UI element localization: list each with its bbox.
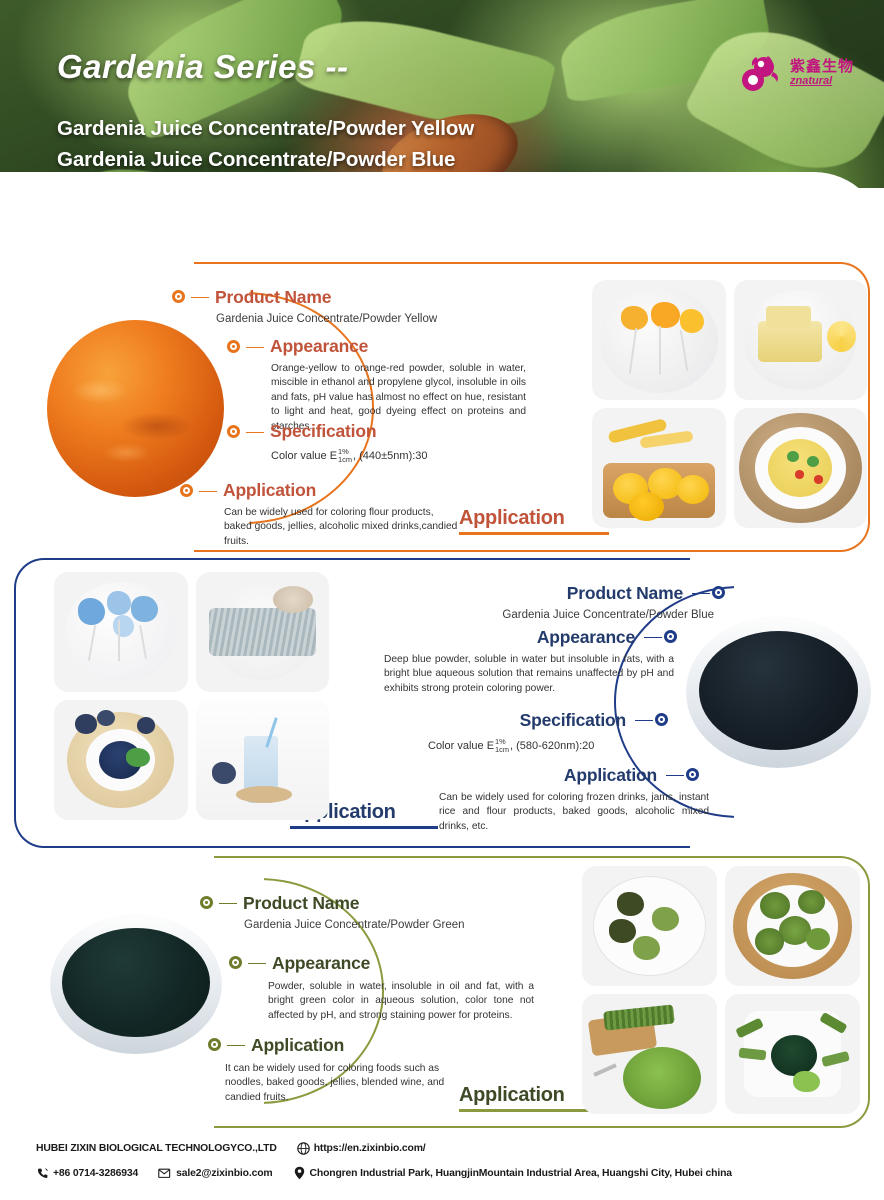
address-item: Chongren Industrial Park, HuangjinMounta… (293, 1166, 732, 1180)
heading-appearance: Appearance (537, 627, 635, 648)
footer: HUBEI ZIXIN BIOLOGICAL TECHNOLOGYCO.,LTD… (0, 1134, 884, 1200)
header-bottom-curve (0, 172, 884, 262)
blueberry-jelly-bowl-photo (54, 700, 188, 820)
photo-grid-yellow (592, 280, 867, 528)
logo-chinese-name: 紫鑫生物 (790, 59, 854, 74)
green-noodle-salad-photo (582, 994, 717, 1114)
email-item[interactable]: sale2@zixinbio.com (158, 1167, 272, 1180)
bullet-lead-line (219, 903, 237, 905)
bullet-dot-product-name (172, 290, 185, 303)
yellow-noodle-soup-photo (734, 408, 868, 528)
spec-prefix: Color value E (271, 450, 337, 462)
application-badge-yellow: Application (459, 507, 609, 535)
value-product-name: Gardenia Juice Concentrate/Powder Green (244, 919, 465, 931)
yellow-cake-with-lemon-photo (734, 280, 868, 400)
heading-appearance: Appearance (272, 953, 370, 974)
bullet-lead-line (246, 347, 264, 349)
bullet-lead-line (666, 775, 684, 777)
bullet-dot-application (180, 484, 193, 497)
bullet-dot-application (686, 768, 699, 781)
value-specification: Color value E 1% 1cm , (440±5nm):30 (271, 448, 428, 464)
heading-product-name: Product Name (215, 287, 331, 308)
bullet-lead-line (644, 637, 662, 639)
bullet-dot-specification (655, 713, 668, 726)
logo-english-name: znatural (790, 76, 854, 87)
green-jelly-bowl-photo (725, 994, 860, 1114)
green-powder (62, 928, 210, 1037)
blue-flower-lollipops-photo (54, 572, 188, 692)
phone-icon (36, 1167, 49, 1180)
value-application: It can be widely used for coloring foods… (225, 1062, 465, 1105)
value-specification: Color value E 1% 1cm , (580-620nm):20 (428, 738, 594, 754)
page-title: Gardenia Series -- (57, 48, 348, 86)
blue-milk-drink-photo (196, 700, 330, 820)
website-item[interactable]: https://en.zixinbio.com/ (297, 1142, 426, 1155)
phone-number: +86 0714-3286934 (53, 1168, 138, 1179)
heading-application: Application (564, 765, 657, 786)
bullet-lead-line (227, 1045, 245, 1047)
spec-fraction: 1% 1cm (338, 448, 352, 464)
value-product-name: Gardenia Juice Concentrate/Powder Blue (502, 609, 714, 621)
header-subtitle-blue: Gardenia Juice Concentrate/Powder Blue (57, 148, 455, 172)
heading-application: Application (251, 1035, 344, 1056)
heading-application: Application (223, 480, 316, 501)
bullet-dot-specification (227, 425, 240, 438)
location-pin-icon (293, 1166, 306, 1180)
company-name: HUBEI ZIXIN BIOLOGICAL TECHNOLOGYCO.,LTD (36, 1143, 277, 1154)
green-powder-dish-photo (50, 914, 222, 1054)
yellow-lollipops-photo (592, 280, 726, 400)
photo-grid-blue (54, 572, 329, 820)
email-address: sale2@zixinbio.com (176, 1168, 272, 1179)
application-badge-label: Application (459, 507, 609, 530)
footer-row-bottom: +86 0714-3286934 sale2@zixinbio.com (36, 1166, 732, 1180)
phone-item[interactable]: +86 0714-3286934 (36, 1167, 138, 1180)
bullet-lead-line (246, 432, 264, 434)
value-appearance: Powder, soluble in water, insoluble in o… (268, 980, 534, 1023)
green-mochi-plate-photo (582, 866, 717, 986)
brochure-page: Gardenia Series -- Gardenia Juice Concen… (0, 0, 884, 1200)
spec-fraction: 1% 1cm (495, 738, 509, 754)
section-green: Product Name Gardenia Juice Concentrate/… (14, 856, 870, 1128)
spec-suffix: , (580-620nm):20 (510, 740, 594, 752)
bullet-dot-appearance (227, 340, 240, 353)
bullet-dot-product-name (712, 586, 725, 599)
spec-subscript: 1cm (338, 456, 352, 464)
bullet-dot-appearance (664, 630, 677, 643)
heading-specification: Specification (270, 421, 376, 442)
photo-grid-green (582, 866, 860, 1114)
value-application: Can be widely used for coloring flour pr… (224, 506, 464, 549)
bullet-dot-product-name (200, 896, 213, 909)
envelope-icon (158, 1167, 172, 1180)
bullet-lead-line (248, 963, 266, 965)
bullet-dot-application (208, 1038, 221, 1051)
heading-product-name: Product Name (567, 583, 683, 604)
logo-wordmark: 紫鑫生物 znatural (790, 59, 854, 87)
footer-row-top: HUBEI ZIXIN BIOLOGICAL TECHNOLOGYCO.,LTD… (36, 1142, 426, 1155)
value-application: Can be widely used for coloring frozen d… (439, 791, 709, 834)
spec-suffix: , (440±5nm):30 (353, 450, 428, 462)
heading-specification: Specification (520, 710, 626, 731)
bullet-lead-line (191, 297, 209, 299)
value-product-name: Gardenia Juice Concentrate/Powder Yellow (216, 313, 437, 325)
bullet-dot-appearance (229, 956, 242, 969)
header-subtitle-yellow: Gardenia Juice Concentrate/Powder Yellow (57, 117, 474, 141)
section-yellow: Product Name Gardenia Juice Concentrate/… (14, 262, 870, 552)
spec-prefix: Color value E (428, 740, 494, 752)
green-cookies-board-photo (725, 866, 860, 986)
value-appearance: Deep blue powder, soluble in water but i… (384, 653, 674, 696)
section-blue: Product Name Gardenia Juice Concentrate/… (14, 558, 870, 848)
bullet-lead-line (635, 720, 653, 722)
website-url: https://en.zixinbio.com/ (314, 1143, 426, 1154)
address-text: Chongren Industrial Park, HuangjinMounta… (310, 1168, 732, 1179)
blue-gray-noodles-photo (196, 572, 330, 692)
orange-powder-photo (47, 320, 224, 497)
yellow-cookies-on-board-photo (592, 408, 726, 528)
application-badge-rule (459, 532, 609, 535)
heading-product-name: Product Name (243, 893, 359, 914)
bullet-lead-line (199, 491, 217, 493)
company-logo: 紫鑫生物 znatural (737, 50, 854, 96)
application-badge-rule (290, 826, 438, 829)
globe-icon (297, 1142, 310, 1155)
spec-subscript: 1cm (495, 746, 509, 754)
znatural-logo-icon (737, 50, 783, 96)
bullet-lead-line (692, 593, 710, 595)
header-banner: Gardenia Series -- Gardenia Juice Concen… (0, 0, 884, 262)
heading-appearance: Appearance (270, 336, 368, 357)
